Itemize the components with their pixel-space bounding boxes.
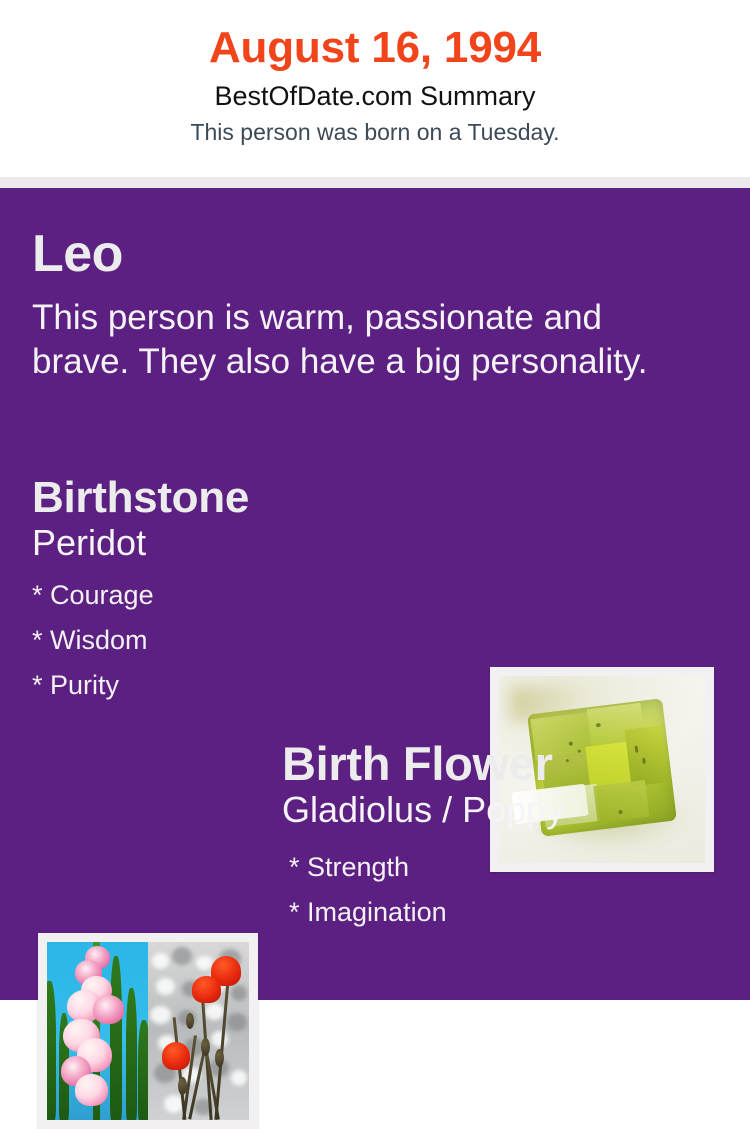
birthstone-name: Peridot: [32, 522, 472, 564]
list-item: * Wisdom: [32, 618, 472, 663]
list-item: * Strength: [289, 845, 722, 890]
birthstone-section: Birthstone Peridot * Courage * Wisdom * …: [32, 476, 472, 708]
page-title: August 16, 1994: [0, 22, 750, 74]
birthstone-heading: Birthstone: [32, 476, 472, 521]
list-item: * Purity: [32, 663, 472, 708]
birth-flower-name: Gladiolus / Poppy: [282, 789, 722, 831]
poppy-photo-half: [148, 942, 249, 1120]
birth-flower-trait-list: * Strength * Imagination: [282, 845, 722, 935]
zodiac-sign-heading: Leo: [32, 188, 750, 280]
header-divider: [0, 177, 750, 188]
site-summary-label: BestOfDate.com Summary: [0, 80, 750, 114]
gladiolus-poppy-icon: [47, 942, 249, 1120]
birth-flower-section: Birth Flower Gladiolus / Poppy * Strengt…: [282, 740, 722, 935]
list-item: * Courage: [32, 573, 472, 618]
born-weekday-text: This person was born on a Tuesday.: [0, 118, 750, 147]
zodiac-description: This person is warm, passionate and brav…: [32, 296, 692, 385]
summary-body: Leo This person is warm, passionate and …: [0, 188, 750, 1000]
list-item: * Imagination: [289, 890, 722, 935]
page-header: August 16, 1994 BestOfDate.com Summary T…: [0, 0, 750, 177]
birth-flower-image-card: [38, 933, 258, 1129]
birthstone-trait-list: * Courage * Wisdom * Purity: [32, 573, 472, 707]
gladiolus-photo-half: [47, 942, 148, 1120]
birth-flower-heading: Birth Flower: [282, 740, 722, 788]
